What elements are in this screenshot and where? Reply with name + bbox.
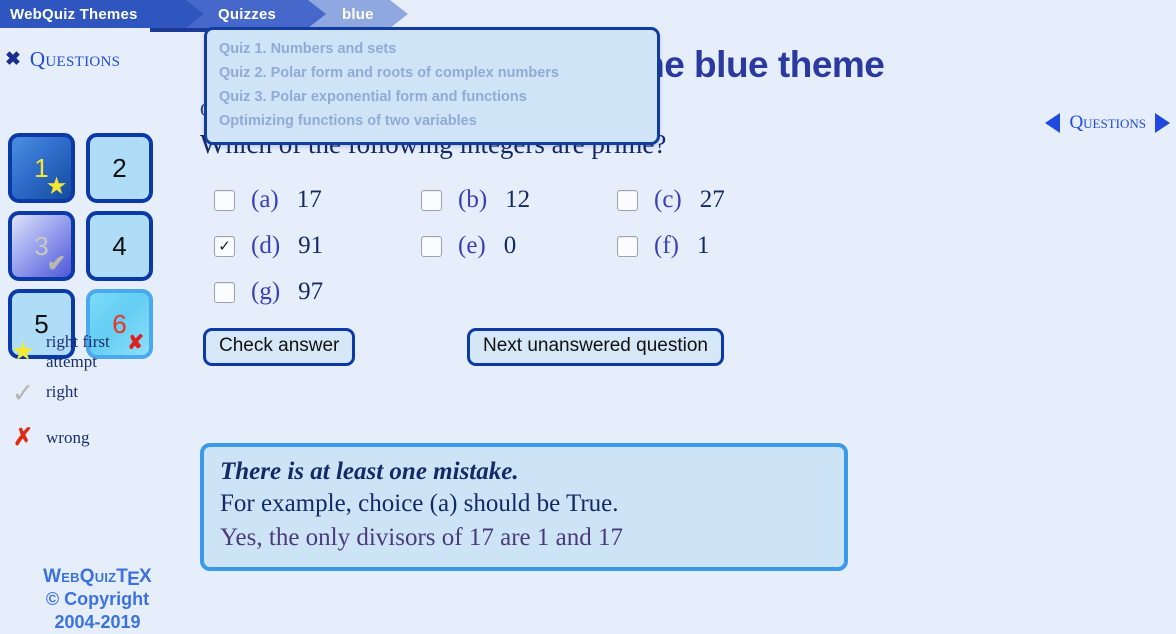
question-button-2[interactable]: 2: [86, 133, 153, 203]
option-g-letter: (g): [251, 278, 280, 306]
option-f-checkbox[interactable]: [617, 236, 638, 257]
feedback-line-1: There is at least one mistake.: [220, 456, 828, 487]
question-button-4[interactable]: 4: [86, 211, 153, 281]
breadcrumb-item-themes-label: WebQuiz Themes: [10, 6, 138, 23]
breadcrumb: WebQuiz Themes Quizzes blue: [0, 0, 1176, 28]
checkbox-tick-icon: ✓: [218, 239, 231, 254]
options-list: (a) 17 (b) 12 (c) 27 ✓ (d) 91 (e) 0 (f) …: [200, 186, 1160, 316]
quiz-menu-item-2[interactable]: Quiz 2. Polar form and roots of complex …: [207, 62, 657, 86]
brand-webquiz: WebQuiz: [43, 566, 116, 587]
option-e-checkbox[interactable]: [421, 236, 442, 257]
check-icon: ✓: [6, 380, 40, 407]
question-button-2-number: 2: [112, 155, 126, 181]
option-a[interactable]: (a) 17: [214, 186, 322, 214]
option-c-letter: (c): [654, 186, 682, 214]
option-a-value: 17: [297, 186, 322, 214]
legend-label-right-first-attempt: right first attempt: [40, 330, 138, 372]
option-e-value: 0: [504, 232, 517, 260]
copyright-line: © Copyright: [0, 588, 195, 611]
option-d-letter: (d): [251, 232, 280, 260]
legend-row-right-first-attempt: ★ right first attempt: [6, 330, 138, 372]
option-c-checkbox[interactable]: [617, 190, 638, 211]
sidebar: ✖ Questions 1 ★ 2 3 ✔ 4 5 6 ✘ ★ right fi…: [0, 40, 195, 619]
breadcrumb-item-themes[interactable]: WebQuiz Themes: [0, 0, 208, 28]
feedback-line-3: Yes, the only divisors of 17 are 1 and 1…: [220, 521, 828, 555]
breadcrumb-item-blue-label: blue: [342, 6, 374, 23]
question-button-3[interactable]: 3 ✔: [8, 211, 75, 281]
option-e[interactable]: (e) 0: [421, 232, 516, 260]
legend-label-right: right: [40, 380, 78, 402]
option-c[interactable]: (c) 27: [617, 186, 725, 214]
next-arrow-icon[interactable]: [1155, 113, 1170, 133]
question-navigation-label: Questions: [1069, 112, 1146, 134]
brand-tex-e: E: [127, 568, 140, 591]
check-answer-button[interactable]: Check answer: [203, 328, 355, 366]
option-a-checkbox[interactable]: [214, 190, 235, 211]
cross-icon: ✗: [6, 426, 40, 450]
legend-row-right: ✓ right: [6, 380, 78, 407]
action-buttons: Check answer Next unanswered question: [200, 328, 1160, 368]
legend-row-wrong: ✗ wrong: [6, 426, 89, 450]
legend-label-wrong: wrong: [40, 426, 89, 448]
brand-tex-x: X: [139, 566, 152, 587]
star-icon: ★: [47, 176, 66, 197]
question-button-1[interactable]: 1 ★: [8, 133, 75, 203]
quiz-menu-item-1[interactable]: Quiz 1. Numbers and sets: [207, 38, 657, 62]
question-navigation: Questions: [1045, 112, 1170, 134]
option-f[interactable]: (f) 1: [617, 232, 709, 260]
option-d[interactable]: ✓ (d) 91: [214, 232, 323, 260]
quiz-menu-item-4[interactable]: Optimizing functions of two variables: [207, 110, 657, 134]
close-icon[interactable]: ✖: [5, 50, 21, 69]
option-d-checkbox[interactable]: ✓: [214, 236, 235, 257]
previous-arrow-icon[interactable]: [1045, 113, 1060, 133]
sidebar-questions-label: Questions: [30, 47, 120, 72]
question-button-4-number: 4: [112, 233, 126, 259]
option-f-value: 1: [697, 232, 710, 260]
footer: WebQuizTEX © Copyright 2004-2019: [0, 565, 195, 634]
star-icon: ★: [6, 330, 40, 364]
option-a-letter: (a): [251, 186, 279, 214]
feedback-box: There is at least one mistake. For examp…: [200, 443, 848, 571]
copyright-years: 2004-2019: [0, 611, 195, 634]
option-d-value: 91: [298, 232, 323, 260]
option-b-checkbox[interactable]: [421, 190, 442, 211]
sidebar-questions-header[interactable]: ✖ Questions: [5, 47, 120, 72]
option-b-value: 12: [505, 186, 530, 214]
option-g-value: 97: [298, 278, 323, 306]
quiz-dropdown-menu[interactable]: Quiz 1. Numbers and sets Quiz 2. Polar f…: [204, 27, 660, 145]
next-unanswered-question-button[interactable]: Next unanswered question: [467, 328, 724, 366]
brand-name: WebQuizTEX: [0, 565, 195, 588]
feedback-line-2: For example, choice (a) should be True.: [220, 487, 828, 521]
option-g-checkbox[interactable]: [214, 282, 235, 303]
option-f-letter: (f): [654, 232, 679, 260]
option-b[interactable]: (b) 12: [421, 186, 530, 214]
quiz-menu-item-3[interactable]: Quiz 3. Polar exponential form and funct…: [207, 86, 657, 110]
option-c-value: 27: [700, 186, 725, 214]
option-g[interactable]: (g) 97: [214, 278, 323, 306]
option-e-letter: (e): [458, 232, 486, 260]
check-icon: ✔: [47, 252, 66, 275]
breadcrumb-item-quizzes-label: Quizzes: [218, 6, 276, 23]
option-b-letter: (b): [458, 186, 487, 214]
